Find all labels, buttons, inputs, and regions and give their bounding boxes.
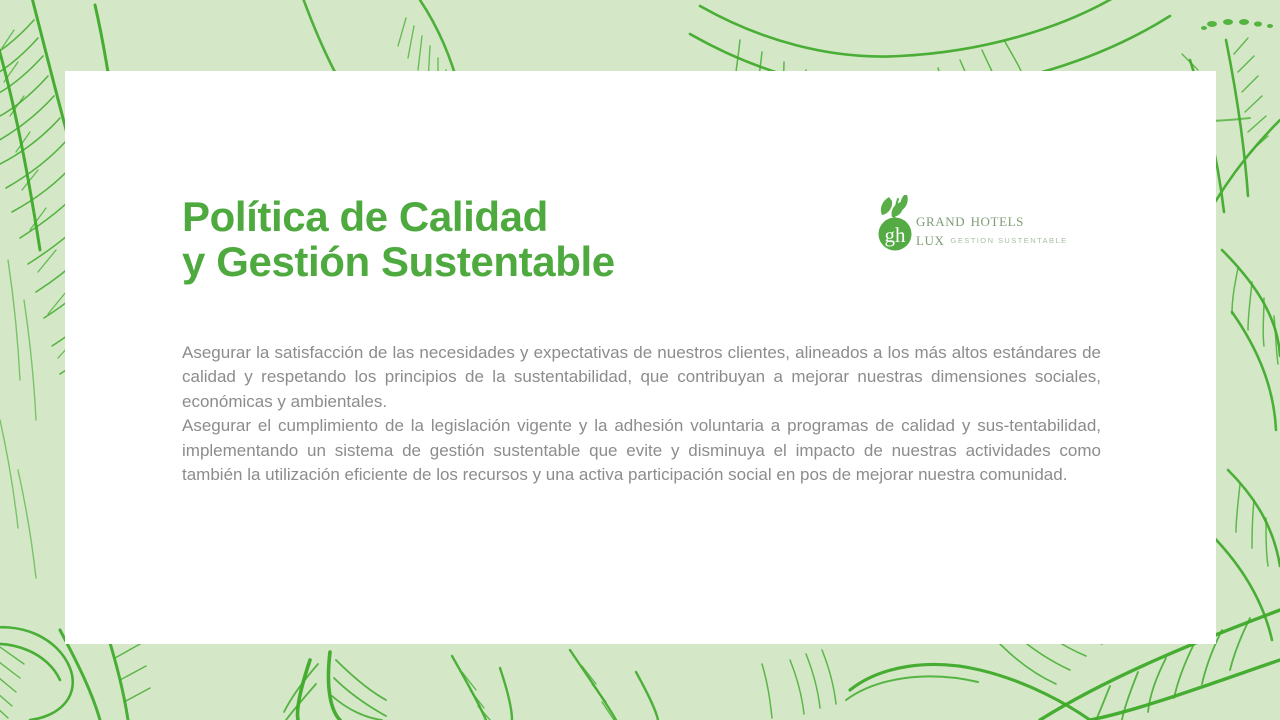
brand-name-line-2: Lux — [916, 229, 945, 250]
policy-body-text: Asegurar la satisfacción de las necesida… — [182, 341, 1101, 487]
title-line-2: y Gestión Sustentable — [182, 239, 802, 284]
brand-wordmark: Grand Hotels LuxGESTION SUSTENTABLE — [916, 211, 1066, 249]
svg-text:gh: gh — [885, 223, 907, 247]
slide-canvas: Política de Calidad y Gestión Sustentabl… — [0, 0, 1280, 720]
content-card: Política de Calidad y Gestión Sustentabl… — [65, 71, 1216, 644]
brand-name-line-2-row: LuxGESTION SUSTENTABLE — [916, 231, 1066, 249]
brand-logo: gh Grand Hotels LuxGESTION SUSTENTABLE — [870, 193, 1060, 255]
policy-paragraph-2: Asegurar el cumplimiento de la legislaci… — [182, 414, 1101, 487]
brand-name-line-1: Grand Hotels — [916, 211, 1066, 230]
page-title: Política de Calidad y Gestión Sustentabl… — [182, 194, 802, 284]
policy-paragraph-1: Asegurar la satisfacción de las necesida… — [182, 341, 1101, 414]
title-line-1: Política de Calidad — [182, 194, 802, 239]
brand-tagline: GESTION SUSTENTABLE — [951, 236, 1068, 245]
